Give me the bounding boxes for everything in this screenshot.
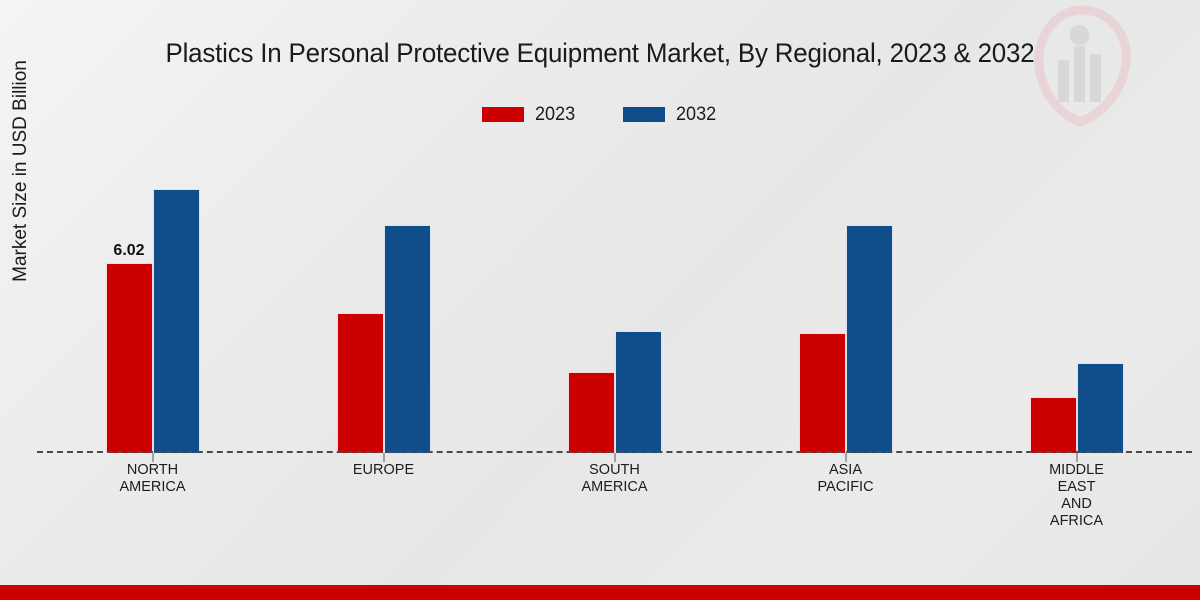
axis-tick — [152, 453, 153, 462]
bar-groups: 6.02 — [37, 150, 1192, 453]
bar-2032[interactable] — [153, 189, 200, 453]
bar-2032[interactable] — [615, 331, 662, 453]
axis-tick — [1076, 453, 1077, 462]
bar-group — [961, 150, 1192, 453]
bar-2023[interactable] — [568, 372, 615, 453]
footer-accent-bar — [0, 585, 1200, 600]
bar-2023[interactable] — [337, 313, 384, 453]
bar-2023[interactable] — [1030, 397, 1077, 453]
legend-item-2023[interactable]: 2023 — [482, 105, 577, 124]
chart-container: Plastics In Personal Protective Equipmen… — [0, 0, 1200, 600]
chart-title: Plastics In Personal Protective Equipmen… — [24, 38, 1176, 69]
bar-2032[interactable] — [1077, 363, 1124, 453]
legend-label-2032: 2032 — [676, 105, 716, 124]
axis-tick — [845, 453, 846, 462]
legend-item-2032[interactable]: 2032 — [623, 105, 718, 124]
x-axis-label: MIDDLE EAST AND AFRICA — [961, 462, 1192, 530]
x-axis-label: EUROPE — [268, 462, 499, 530]
axis-tick — [383, 453, 384, 462]
legend-swatch-2023 — [482, 107, 524, 122]
legend-swatch-2032 — [623, 107, 665, 122]
x-axis-labels: NORTH AMERICAEUROPESOUTH AMERICAASIA PAC… — [37, 462, 1192, 530]
bar-2032[interactable] — [846, 225, 893, 454]
bar-pair — [799, 150, 893, 453]
legend-label-2023: 2023 — [535, 105, 575, 124]
bar-group — [499, 150, 730, 453]
bar-group — [730, 150, 961, 453]
x-axis-label: ASIA PACIFIC — [730, 462, 961, 530]
chart-legend: 2023 2032 — [0, 105, 1200, 124]
bar-pair — [1030, 150, 1124, 453]
axis-baseline — [37, 451, 1192, 453]
x-axis-label: SOUTH AMERICA — [499, 462, 730, 530]
bar-value-label: 6.02 — [113, 242, 144, 260]
y-axis-title: Market Size in USD Billion — [10, 11, 32, 331]
bar-2032[interactable] — [384, 225, 431, 454]
bar-group: 6.02 — [37, 150, 268, 453]
bar-2023[interactable]: 6.02 — [106, 263, 153, 453]
bar-pair — [337, 150, 431, 453]
bar-2023[interactable] — [799, 333, 846, 453]
bar-pair — [568, 150, 662, 453]
axis-tick — [614, 453, 615, 462]
bar-pair: 6.02 — [106, 150, 200, 453]
x-axis-label: NORTH AMERICA — [37, 462, 268, 530]
plot-area: 6.02 — [37, 150, 1192, 453]
bar-group — [268, 150, 499, 453]
